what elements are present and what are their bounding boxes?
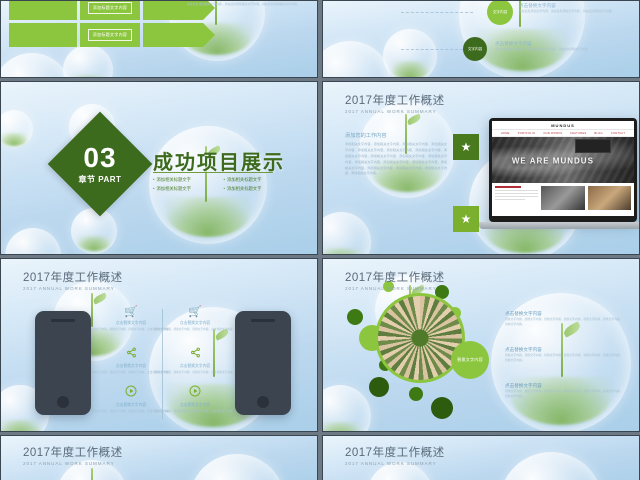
bullet-item: •添加相关标题文字: [153, 177, 218, 183]
phone-mockup-right: [235, 311, 291, 415]
slide-thumbnail-phones[interactable]: 2017年度工作概述 2017 ANNUAL WORK SUMMARY 🛒 点击…: [0, 258, 318, 432]
table-row[interactable]: 添加标题文字内容: [9, 23, 215, 47]
table-cell-plain: [143, 23, 203, 47]
bullet-label: 添加相关标题文字: [157, 177, 191, 182]
body-heading: 添加您的工作内容: [345, 132, 447, 139]
nav-item[interactable]: FEATURES: [570, 132, 586, 135]
circle-label-badge[interactable]: 替换文字内容: [451, 341, 489, 379]
title-underline: [153, 172, 273, 173]
bullet-label: 添加相关标题文字: [227, 186, 261, 191]
slide-title-cn: 2017年度工作概述: [23, 269, 123, 285]
connector-line: [401, 12, 473, 13]
slide-thumbnail-bottom-left[interactable]: 2017年度工作概述 2017 ANNUAL WORK SUMMARY: [0, 435, 318, 480]
feature-heading: 点击替换文字内容: [153, 403, 237, 408]
nav-item[interactable]: OUR WORKS: [543, 132, 562, 135]
star-badge[interactable]: ★: [453, 206, 479, 232]
mockup-logo: MUNDUS: [551, 123, 575, 128]
slide-title-cn: 2017年度工作概述: [23, 444, 123, 460]
text-paragraph: 替换文字内容，替换文字内容，替换文字内容，替换文字内容，替换文字内容，替换文字内…: [505, 317, 623, 328]
slide-header: 2017年度工作概述 2017 ANNUAL WORK SUMMARY: [345, 444, 445, 466]
feature-paragraph: 替换文字内容，替换文字内容，替换文字内容，点击替换文字内容。: [153, 410, 237, 415]
slide-header: 2017年度工作概述 2017 ANNUAL WORK SUMMARY: [345, 92, 445, 114]
dot-badge[interactable]: 文字内容: [463, 37, 487, 61]
slide-title-en: 2017 ANNUAL WORK SUMMARY: [23, 286, 123, 291]
bullet-grid: •添加相关标题文字 •添加相关标题文字 •添加相关标题文字 •添加相关标题文字: [153, 177, 288, 192]
slide-title-en: 2017 ANNUAL WORK SUMMARY: [345, 286, 445, 291]
feature-block: 点击替换文字内容 替换文字内容，替换文字内容，替换文字内容，点击替换文字内容。: [153, 347, 237, 376]
feature-paragraph: 替换文字内容，替换文字内容，替换文字内容，点击替换文字内容。: [153, 371, 237, 376]
mockup-hero: WE ARE MUNDUS: [492, 137, 634, 183]
mockup-dropdown-panel: [575, 139, 611, 153]
slide-title-en: 2017 ANNUAL WORK SUMMARY: [345, 109, 445, 114]
bullet-label: 添加相关标题文字: [157, 186, 191, 191]
mockup-topbar: MUNDUS: [492, 121, 634, 130]
dot-label: 文字内容: [468, 47, 482, 52]
mockup-line: [495, 196, 538, 197]
text-block: 点击替换文字内容 替换文字内容，替换文字内容，替换文字内容，替换文字内容，替换文…: [505, 347, 623, 364]
phone-home-button: [57, 396, 69, 408]
arrow-icon: [203, 23, 215, 47]
slide-thumbnail-section-03[interactable]: 03 章节 PART 成功项目展示 •添加相关标题文字 •添加相关标题文字 •添…: [0, 81, 318, 255]
laptop-screen: MUNDUS HOME PORTFOLIO OUR WORKS FEATURES…: [489, 118, 637, 222]
slide-title-cn: 2017年度工作概述: [345, 92, 445, 108]
laptop-mockup: MUNDUS HOME PORTFOLIO OUR WORKS FEATURES…: [489, 118, 637, 222]
connector-line: [401, 49, 463, 50]
nav-item[interactable]: BLOG: [594, 132, 602, 135]
slide-header: 2017年度工作概述 2017 ANNUAL WORK SUMMARY: [345, 269, 445, 291]
slide-thumbnail-laptop[interactable]: 2017年度工作概述 2017 ANNUAL WORK SUMMARY 添加您的…: [322, 81, 640, 255]
star-badge[interactable]: ★: [453, 134, 479, 160]
cart-icon: 🛒: [153, 307, 237, 318]
slide-title-cn: 2017年度工作概述: [345, 269, 445, 285]
mockup-line: [495, 190, 538, 191]
table-cell-plain: [9, 23, 77, 47]
slide-header: 2017年度工作概述 2017 ANNUAL WORK SUMMARY: [23, 444, 123, 466]
bullet-item: •添加相关标题文字: [224, 177, 289, 183]
bullet-label: 添加相关标题文字: [227, 177, 261, 182]
slide-title-en: 2017 ANNUAL WORK SUMMARY: [23, 461, 123, 466]
feature-block: 🛒 点击替换文字内容 替换文字内容，替换文字内容，替换文字内容，点击替换文字内容…: [153, 307, 237, 333]
bubble-decor: [383, 29, 437, 78]
chapter-number: 03: [79, 144, 122, 172]
website-mockup: MUNDUS HOME PORTFOLIO OUR WORKS FEATURES…: [492, 121, 634, 216]
slide-title-en: 2017 ANNUAL WORK SUMMARY: [345, 461, 445, 466]
table-cell-plain: [9, 0, 77, 20]
text-block: 点击替换文字内容 替换文字内容，替换文字内容，替换文字内容，替换文字内容，替换文…: [505, 311, 623, 328]
phone-home-button: [257, 396, 269, 408]
feature-heading: 点击替换文字内容: [153, 321, 237, 326]
photo-circle: [375, 293, 465, 383]
table-cell-chip: 添加标题文字内容: [80, 23, 140, 47]
bullet-item: •添加相关标题文字: [224, 186, 289, 192]
list-item: 04 添加相关工作内容 请在此处添加相关文字内容，请在此处添加相关文字内容，请在…: [171, 0, 301, 7]
item-paragraph: 请在此处添加相关文字内容，请在此处添加相关文字内容，请在此处添加相关文字内容。: [187, 2, 300, 7]
mockup-line: [495, 186, 521, 188]
text-paragraph: 请在此处添加文字内容，请在此处添加文字内容，请在此处添加文字内容。: [519, 9, 629, 15]
body-paragraph: 添加相关文字内容，添加相关文字内容，添加相关文字内容，添加相关文字内容，添加相关…: [345, 142, 447, 177]
mockup-thumbnail: [588, 186, 631, 210]
play-icon: [153, 385, 237, 400]
feature-block: 点击替换文字内容 替换文字内容，替换文字内容，替换文字内容，点击替换文字内容。: [153, 385, 237, 415]
chip-label: 添加标题文字内容: [88, 29, 132, 41]
bullet-dot-icon: •: [224, 177, 226, 182]
nav-item[interactable]: PORTFOLIO: [518, 132, 536, 135]
decor-circle: [431, 397, 453, 419]
decor-circle: [369, 377, 389, 397]
phone-speaker: [51, 319, 75, 322]
bullet-dot-icon: •: [224, 186, 226, 191]
bubble-decor: [71, 208, 117, 254]
laptop-base: [479, 222, 640, 229]
circle-label-text: 替换文字内容: [457, 357, 483, 363]
dot-badge[interactable]: 文字内容: [487, 0, 513, 25]
sprout-stem: [91, 468, 93, 480]
share-icon: [153, 347, 237, 361]
nav-item[interactable]: CONTACT: [611, 132, 625, 135]
nav-item[interactable]: HOME: [501, 132, 510, 135]
text-paragraph: 请在此处添加文字内容，请在此处添加文字内容，请在此处添加文字内容。: [495, 47, 599, 53]
mockup-text-col: [495, 186, 538, 210]
phone-mockup-left: [35, 311, 91, 415]
mockup-line: [495, 199, 525, 200]
chip-label: 添加标题文字内容: [88, 2, 132, 14]
text-block: 点击替换文字内容 替换文字内容，替换文字内容，替换文字内容，替换文字内容，替换文…: [505, 383, 623, 400]
slide-deck-preview: 添加标题文字内容 添加标题文字内容 添加标题文字内容: [0, 0, 640, 480]
bubble-text-block: 点击替换文字内容 请在此处添加文字内容，请在此处添加文字内容，请在此处添加文字内…: [495, 41, 599, 53]
slide-thumbnail-bubbles[interactable]: 文字内容 文字内容 点击替换文字内容 请在此处添加文字内容，请在此处添加文字内容…: [322, 0, 640, 78]
slide-title-cn: 2017年度工作概述: [345, 444, 445, 460]
table-cell-chip: 添加标题文字内容: [80, 0, 140, 20]
text-paragraph: 替换文字内容，替换文字内容，替换文字内容，替换文字内容，替换文字内容，替换文字内…: [505, 389, 623, 400]
dot-label: 文字内容: [493, 10, 507, 15]
decor-circle: [347, 309, 363, 325]
feature-heading: 点击替换文字内容: [153, 364, 237, 369]
numbered-list: 03 添加相关工作内容 请在此处添加相关文字内容，请在此处添加相关文字内容，请在…: [171, 0, 301, 17]
mockup-thumbnail: [541, 186, 584, 210]
star-icon: ★: [461, 213, 472, 225]
mockup-nav: HOME PORTFOLIO OUR WORKS FEATURES BLOG C…: [492, 130, 634, 137]
body-text-block: 添加您的工作内容 添加相关文字内容，添加相关文字内容，添加相关文字内容，添加相关…: [345, 132, 447, 177]
mockup-line: [495, 193, 538, 194]
decor-circle: [409, 387, 423, 401]
star-icon: ★: [461, 141, 472, 153]
bubble-text-block: 点击替换文字内容 请在此处添加文字内容，请在此处添加文字内容，请在此处添加文字内…: [519, 3, 629, 15]
phone-speaker: [251, 319, 275, 322]
item-number: 04: [171, 0, 181, 3]
feature-paragraph: 替换文字内容，替换文字内容，替换文字内容，点击替换文字内容。: [153, 328, 237, 333]
slide-header: 2017年度工作概述 2017 ANNUAL WORK SUMMARY: [23, 269, 123, 291]
slide-thumbnail-table[interactable]: 添加标题文字内容 添加标题文字内容 添加标题文字内容: [0, 0, 318, 78]
text-paragraph: 替换文字内容，替换文字内容，替换文字内容，替换文字内容，替换文字内容，替换文字内…: [505, 353, 623, 364]
bullet-dot-icon: •: [153, 177, 155, 182]
mockup-lower-section: [492, 183, 634, 213]
page-title: 成功项目展示: [153, 146, 285, 175]
bullet-dot-icon: •: [153, 186, 155, 191]
slide-thumbnail-circles[interactable]: 2017年度工作概述 2017 ANNUAL WORK SUMMARY 替换文字…: [322, 258, 640, 432]
slide-thumbnail-bottom-right[interactable]: 2017年度工作概述 2017 ANNUAL WORK SUMMARY: [322, 435, 640, 480]
chapter-label: 章节 PART: [79, 174, 122, 185]
mockup-hero-text: WE ARE MUNDUS: [512, 156, 594, 165]
bullet-item: •添加相关标题文字: [153, 186, 218, 192]
